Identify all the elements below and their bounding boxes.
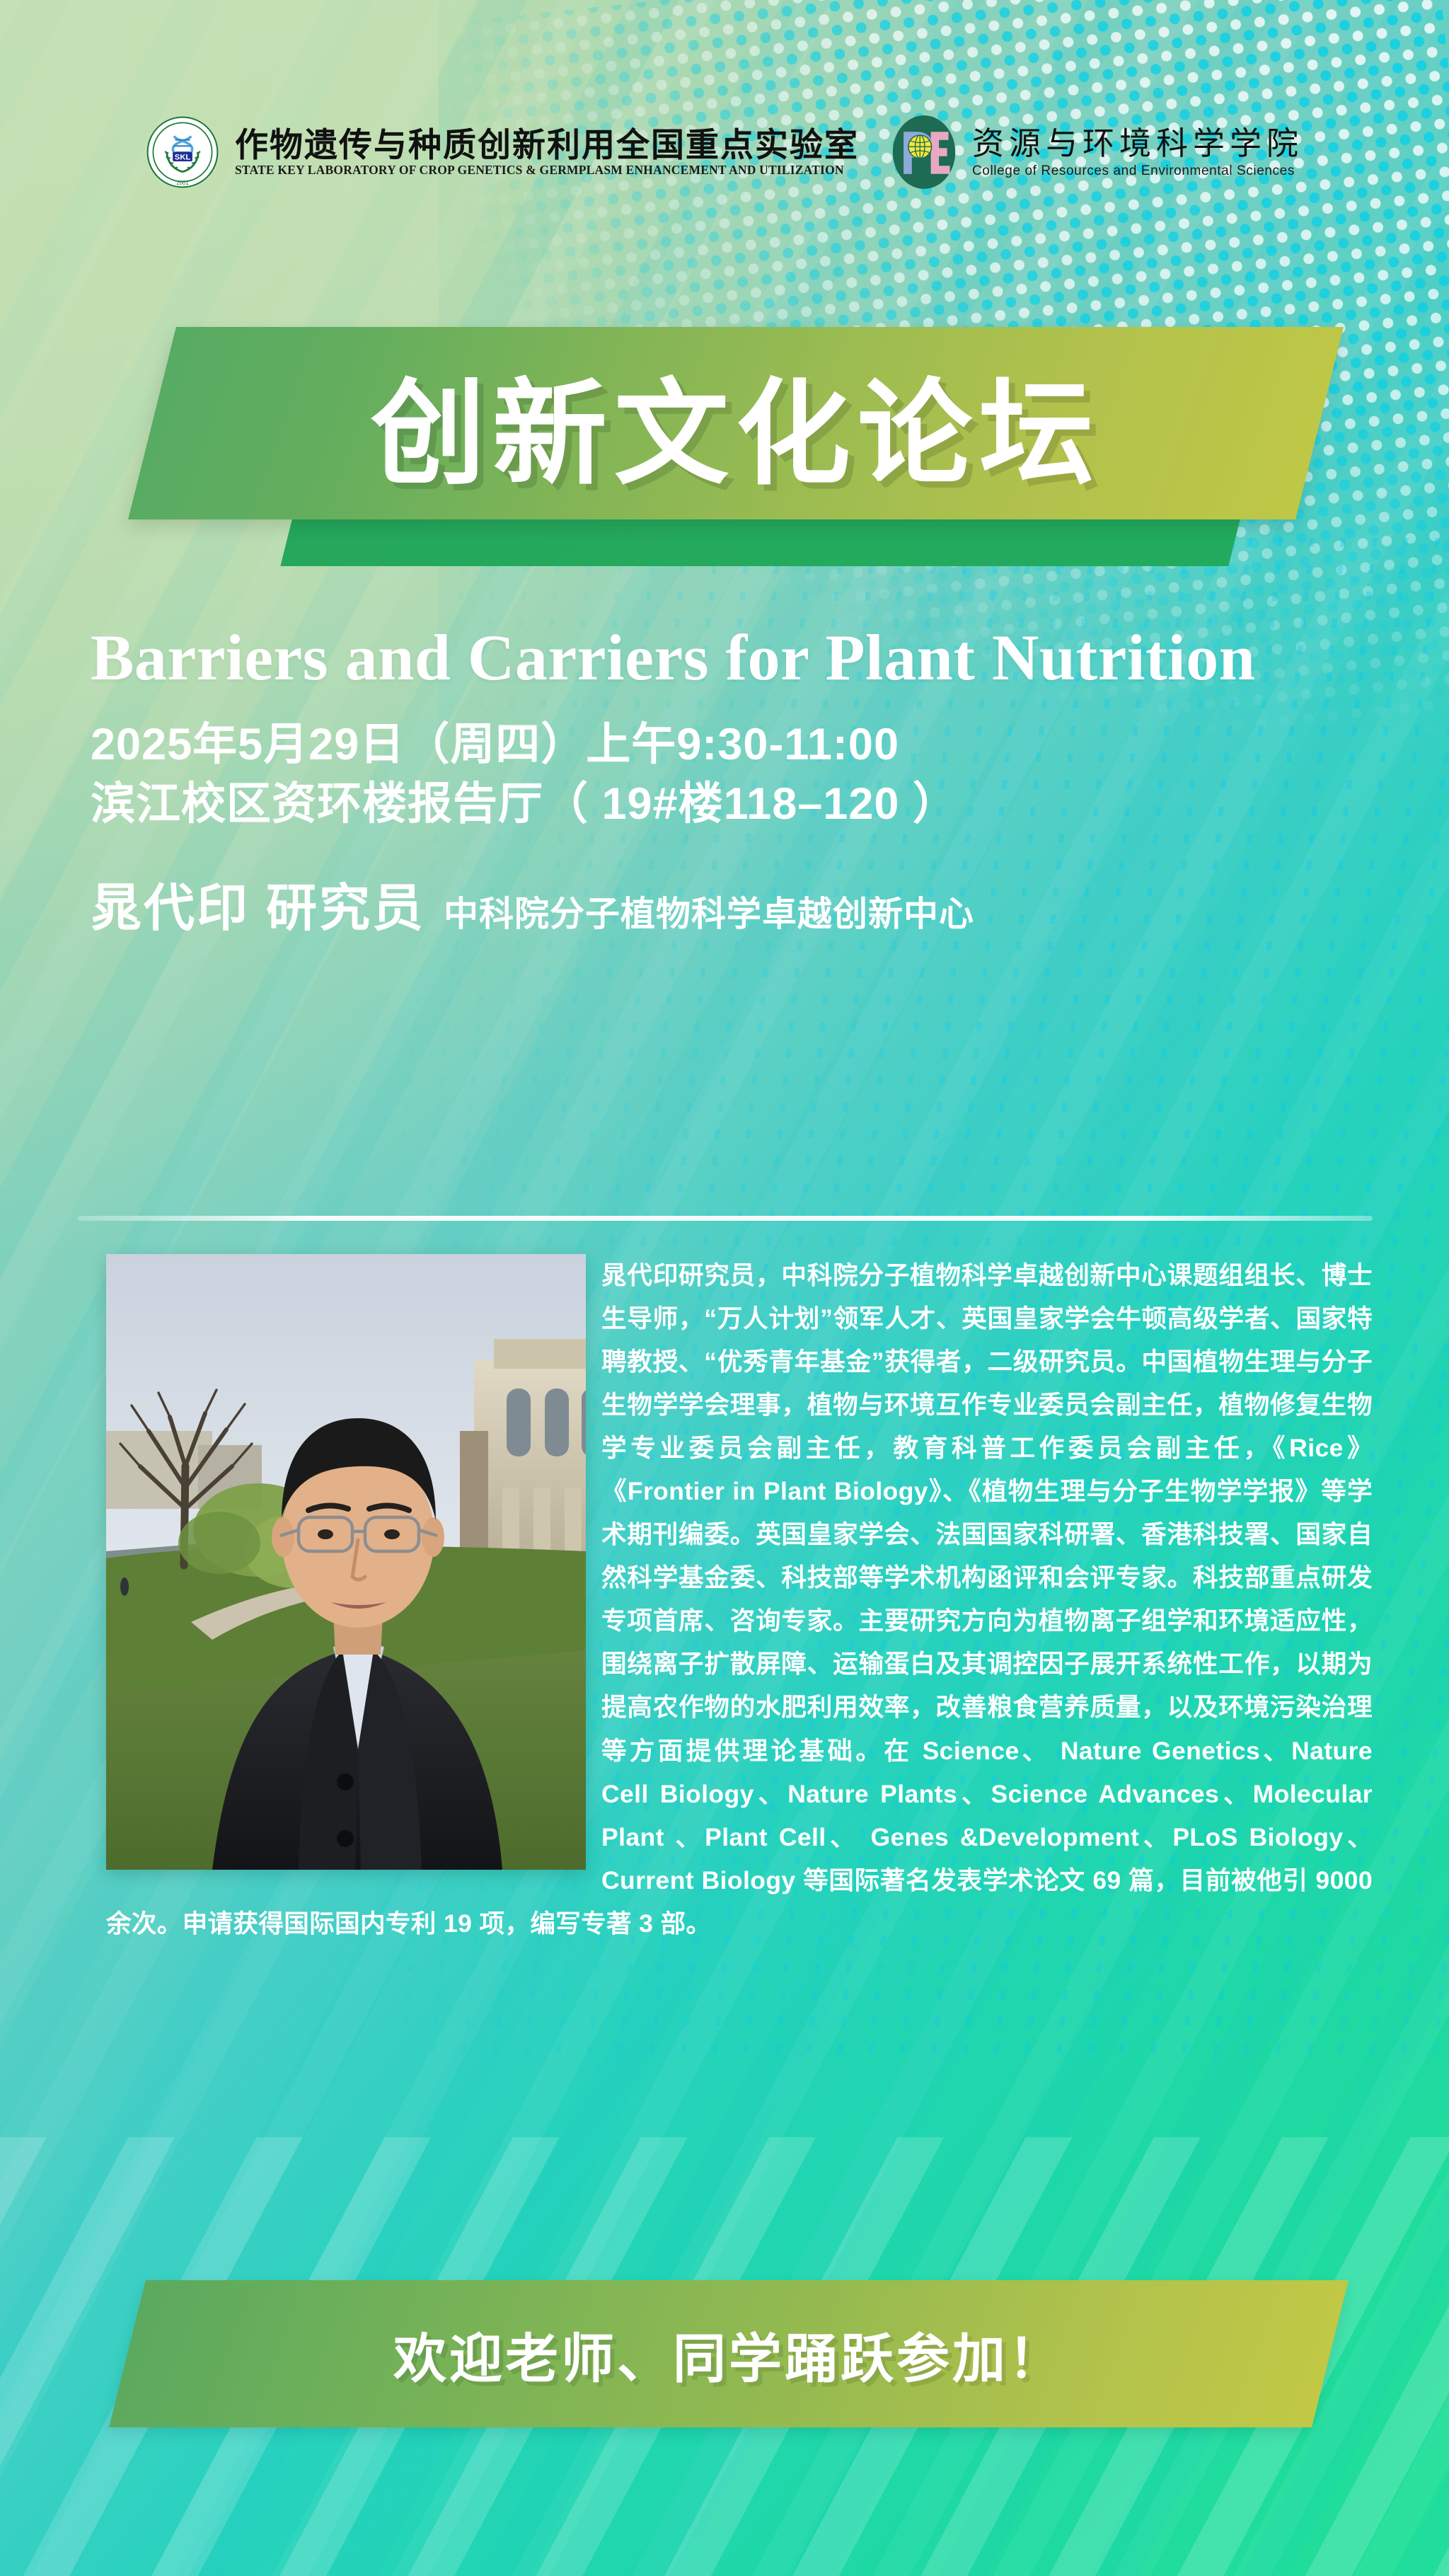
crop-genetics-lab-emblem-icon: SKL 2001 — [146, 115, 219, 189]
speaker-row: 晁代印 研究员 中科院分子植物科学卓越创新中心 — [91, 866, 1364, 941]
college-logo-group: 资源与环境科学学院 College of Resources and Envir… — [890, 114, 1303, 190]
svg-text:2001: 2001 — [176, 180, 188, 186]
lab-logo-group: SKL 2001 作物遗传与种质创新利用全国重点实验室 STATE KEY LA… — [146, 115, 859, 189]
speaker-name: 晁代印 研究员 — [91, 866, 425, 941]
seminar-meta: 2025年5月29日（周四）上午9:30-11:00 滨江校区资环楼报告厅（ 1… — [91, 715, 1364, 833]
college-name-en: College of Resources and Environmental S… — [972, 164, 1303, 178]
lab-name-en: STATE KEY LABORATORY OF CROP GENETICS & … — [235, 164, 859, 177]
seminar-poster: SKL 2001 作物遗传与种质创新利用全国重点实验室 STATE KEY LA… — [0, 0, 1449, 2576]
speaker-affiliation: 中科院分子植物科学卓越创新中心 — [444, 886, 974, 936]
forum-title-banner: 创新文化论坛 — [0, 311, 1449, 580]
ire-globe-logo-icon — [890, 114, 958, 190]
seminar-title-en: Barriers and Carriers for Plant Nutritio… — [91, 623, 1293, 693]
college-name-block: 资源与环境科学学院 College of Resources and Envir… — [972, 127, 1303, 178]
forum-title-text: 创新文化论坛 — [371, 340, 1101, 507]
svg-text:SKL: SKL — [175, 153, 191, 161]
seminar-details: Barriers and Carriers for Plant Nutritio… — [91, 623, 1364, 941]
section-divider — [78, 1216, 1373, 1221]
banner-title-container: 创新文化论坛 — [152, 327, 1320, 519]
lab-name-block: 作物遗传与种质创新利用全国重点实验室 STATE KEY LABORATORY … — [235, 128, 859, 177]
footer-banner: 欢迎老师、同学踊跃参加！ — [0, 2265, 1449, 2463]
seminar-location: 滨江校区资环楼报告厅（ 19#楼118–120 ） — [91, 775, 1364, 834]
header-logo-bar: SKL 2001 作物遗传与种质创新利用全国重点实验室 STATE KEY LA… — [0, 106, 1449, 198]
lab-name-cn: 作物遗传与种质创新利用全国重点实验室 — [235, 128, 859, 161]
seminar-datetime: 2025年5月29日（周四）上午9:30-11:00 — [91, 715, 1364, 774]
speaker-biography: 晁代印研究员，中科院分子植物科学卓越创新中心课题组组长、博士生导师，“万人计划”… — [106, 1254, 1373, 1945]
college-name-cn: 资源与环境科学学院 — [972, 127, 1303, 159]
bio-photo-spacer — [106, 1254, 601, 1877]
footer-text-container: 欢迎老师、同学踊跃参加！ — [127, 2280, 1330, 2427]
call-to-action-text: 欢迎老师、同学踊跃参加！ — [393, 2316, 1064, 2393]
